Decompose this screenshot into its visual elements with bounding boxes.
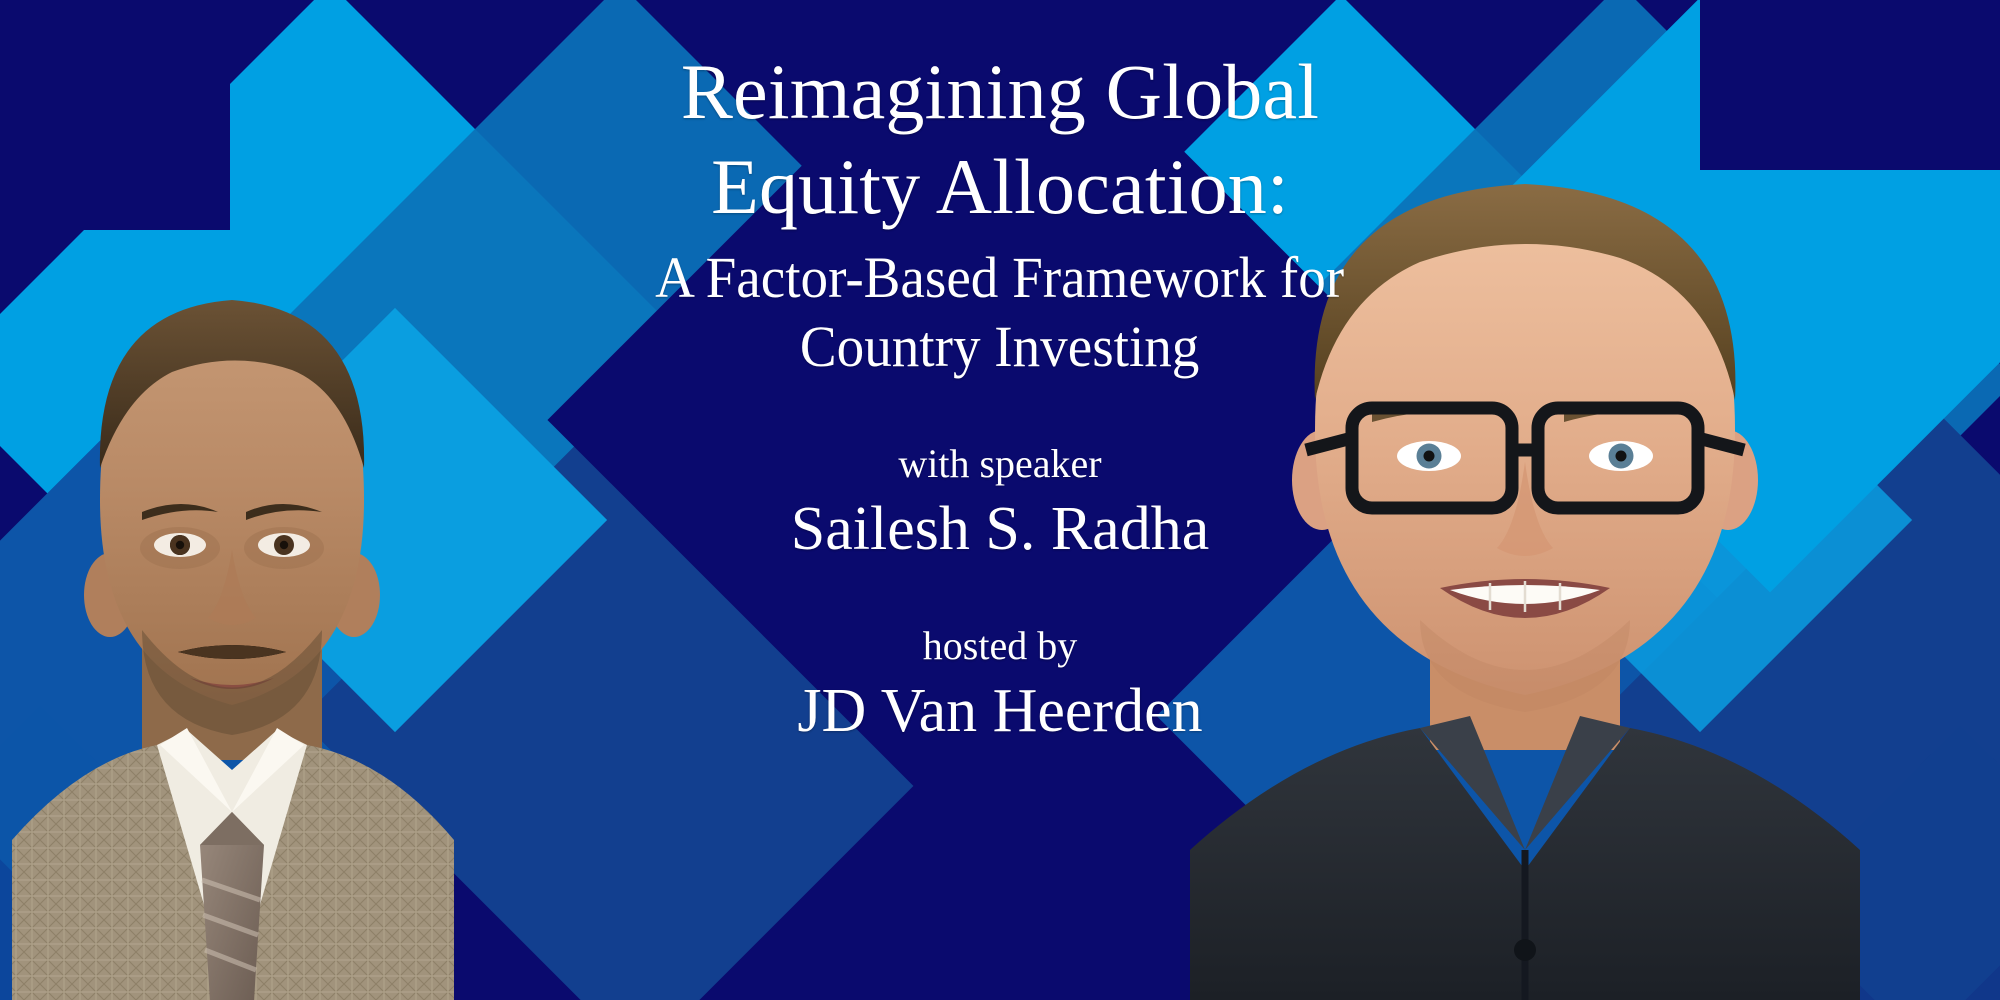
portrait-photo-sailesh — [0, 200, 472, 1000]
navy-left-mask — [0, 0, 230, 230]
webinar-promo-banner: Reimagining Global Equity Allocation: A … — [0, 0, 2000, 1000]
title-line-1: Reimagining Global — [681, 44, 1319, 139]
speaker-name: Sailesh S. Radha — [791, 495, 1209, 563]
spacer — [791, 485, 1209, 495]
subtitle-line-1: A Factor-Based Framework for — [655, 244, 1344, 312]
banner-text-block: Reimagining Global Equity Allocation: A … — [510, 0, 1490, 1000]
speaker-label: with speaker — [791, 443, 1209, 485]
host-label: hosted by — [797, 625, 1202, 667]
title-line-2: Equity Allocation: — [681, 139, 1319, 234]
navy-right-mask — [1700, 0, 2000, 170]
title-group: Reimagining Global Equity Allocation: — [681, 44, 1319, 234]
host-name: JD Van Heerden — [797, 677, 1202, 745]
spacer — [797, 667, 1202, 677]
speaker-portrait-left — [0, 200, 472, 1000]
subtitle-line-2: Country Investing — [655, 313, 1344, 381]
speaker-group: with speaker Sailesh S. Radha — [791, 443, 1209, 563]
subtitle-group: A Factor-Based Framework for Country Inv… — [637, 244, 1362, 381]
host-group: hosted by JD Van Heerden — [797, 625, 1202, 745]
